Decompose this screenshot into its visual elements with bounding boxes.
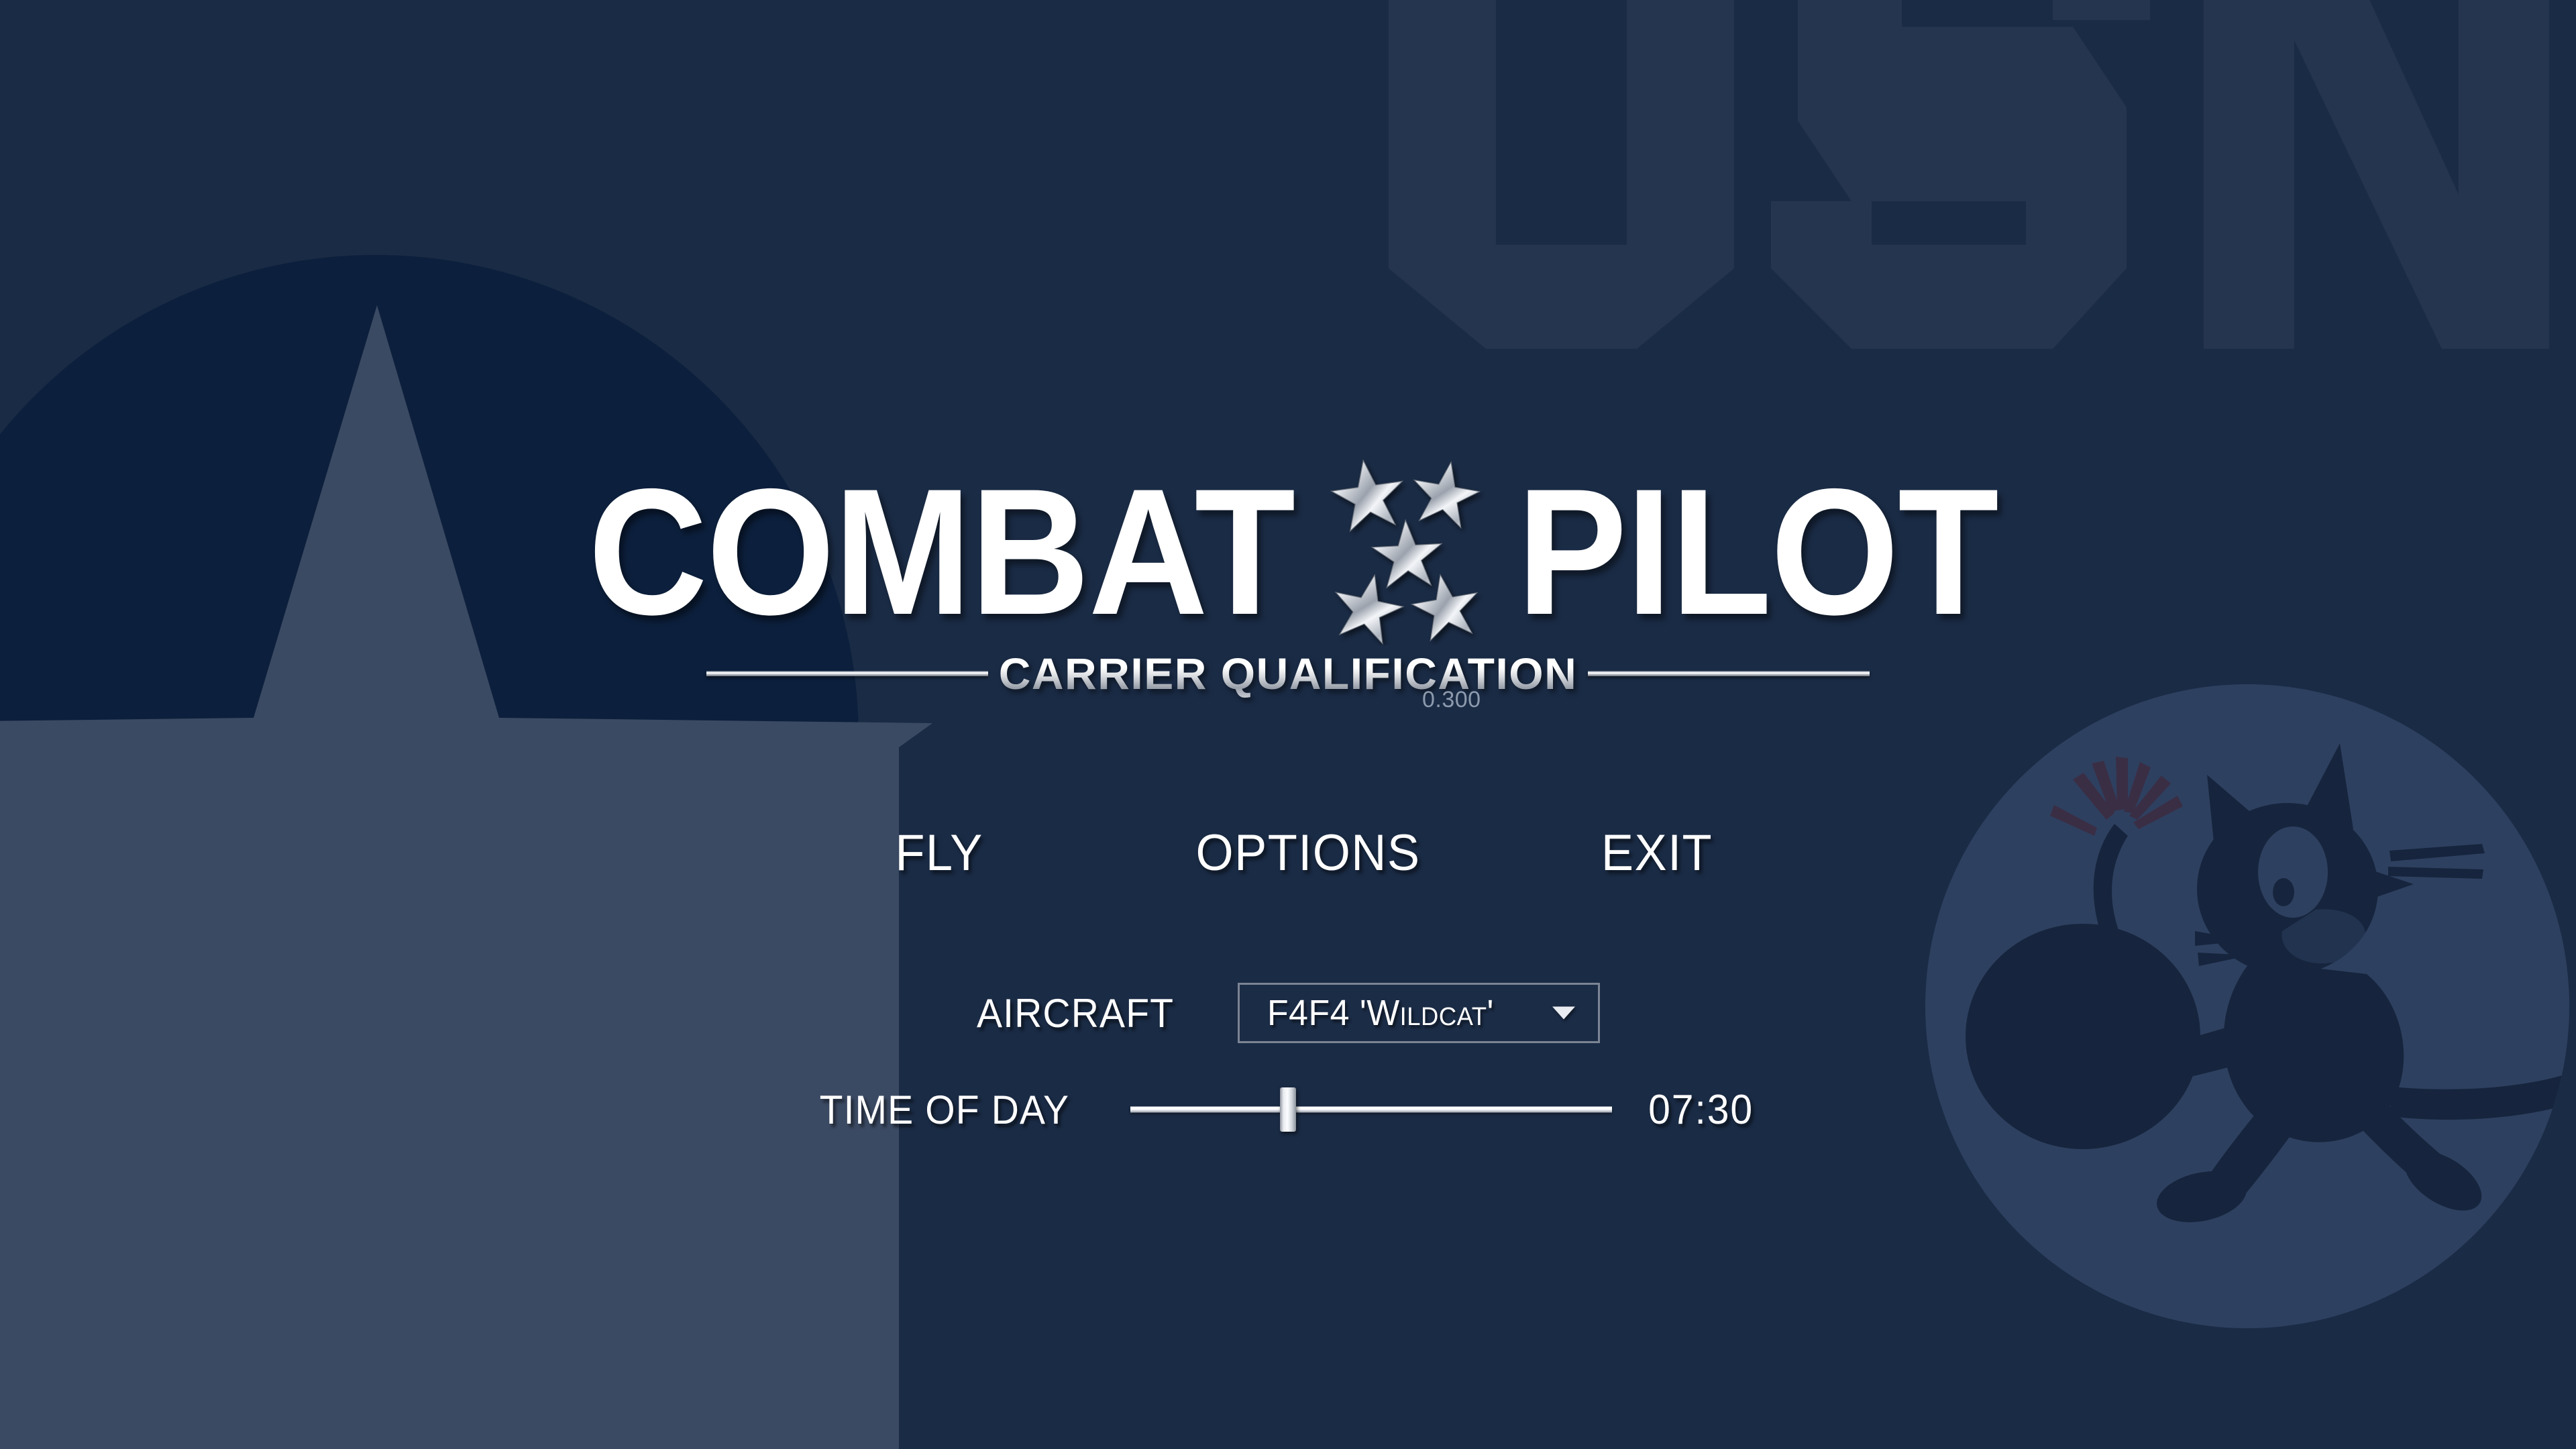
menu-item-fly[interactable]: FLY [761, 824, 1118, 882]
divider-right [1588, 671, 1870, 676]
chevron-down-icon[interactable] [1552, 1007, 1575, 1020]
time-of-day-value: 07:30 [1648, 1086, 1754, 1134]
setting-row-aircraft: AIRCRAFT F4F4 'Wildcat' [0, 981, 2576, 1045]
menu-item-options[interactable]: OPTIONS [1136, 824, 1481, 882]
aircraft-label: AIRCRAFT [30, 990, 1174, 1036]
settings-panel: AIRCRAFT F4F4 'Wildcat' TIME OF DAY 07:3… [0, 981, 2576, 1174]
time-of-day-slider[interactable] [1130, 1079, 1612, 1140]
divider-left [706, 671, 988, 676]
title-word-pilot: PILOT [1517, 480, 1998, 623]
five-star-cluster-icon [1327, 458, 1495, 645]
menu-item-exit[interactable]: EXIT [1498, 824, 1817, 882]
aircraft-select[interactable]: F4F4 'Wildcat' [1238, 983, 1600, 1043]
title-word-combat: COMBAT [588, 480, 1295, 623]
version-label: 0.300 [1422, 687, 1481, 713]
subtitle-row: CARRIER QUALIFICATION 0.300 [0, 648, 2576, 699]
slider-track[interactable] [1130, 1107, 1612, 1113]
setting-row-time-of-day: TIME OF DAY 07:30 [0, 1077, 2576, 1142]
aircraft-selected-value: F4F4 'Wildcat' [1267, 992, 1494, 1034]
title-block: COMBAT [0, 451, 2576, 699]
main-menu: FLY OPTIONS EXIT [0, 824, 2576, 882]
subtitle-text: CARRIER QUALIFICATION [988, 648, 1589, 699]
slider-handle[interactable] [1280, 1087, 1296, 1132]
main-menu-screen: COMBAT [0, 0, 2576, 1449]
time-of-day-label: TIME OF DAY [28, 1087, 1069, 1133]
title-row: COMBAT [0, 451, 2576, 652]
